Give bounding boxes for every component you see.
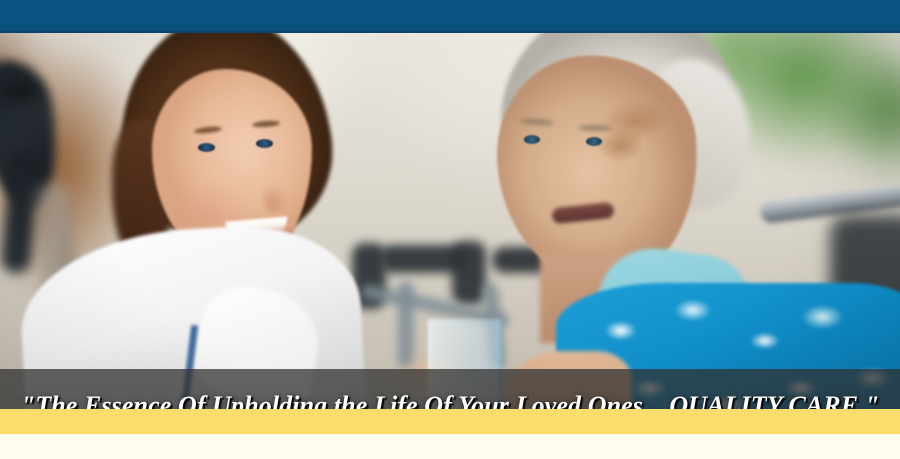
hero-caption-text: "The Essence Of Upholding the Life Of Yo… <box>0 393 900 410</box>
page-root: "The Essence Of Upholding the Life Of Yo… <box>0 0 900 459</box>
hero-banner[interactable]: "The Essence Of Upholding the Life Of Yo… <box>0 33 900 409</box>
site-header-bar[interactable] <box>0 0 900 33</box>
walker-grip-b <box>452 241 486 305</box>
caregiver-eye-left <box>198 143 215 152</box>
page-content-area <box>0 434 900 459</box>
elderly-eye-right <box>586 137 602 146</box>
site-header-bottom-rule <box>0 31 900 33</box>
caregiver-eye-right <box>256 139 273 148</box>
hero-photo <box>0 33 900 409</box>
elderly-eye-left <box>524 135 540 144</box>
hero-caption-band: "The Essence Of Upholding the Life Of Yo… <box>0 369 900 409</box>
yellow-divider <box>0 409 900 434</box>
caregiver-nose <box>262 183 288 213</box>
site-header-bar-fill <box>0 0 900 33</box>
